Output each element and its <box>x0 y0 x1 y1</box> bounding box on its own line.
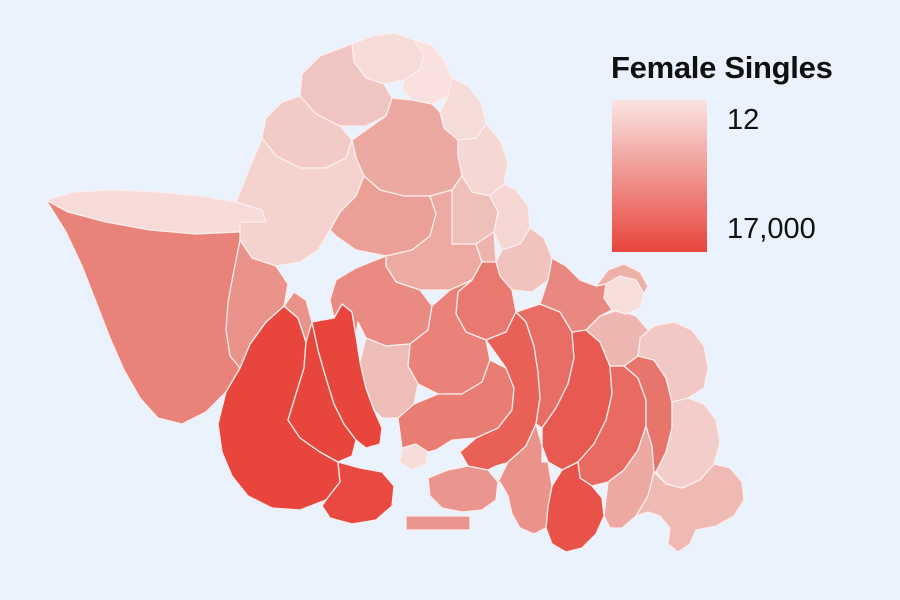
map-visualization: north-shore-tip: 900 north-shore-east: 6… <box>0 0 900 600</box>
legend-min-value-label: 12 <box>727 106 759 135</box>
legend-colorbar[interactable] <box>612 100 707 252</box>
map-legend: Female Singles 12 17,000 <box>605 52 890 260</box>
legend-body: 12 17,000 <box>605 100 890 260</box>
legend-max-value-label: 17,000 <box>727 215 816 244</box>
legend-title: Female Singles <box>611 52 890 83</box>
map-region-sand-island[interactable]: sand-island: 6000 <box>406 466 498 530</box>
